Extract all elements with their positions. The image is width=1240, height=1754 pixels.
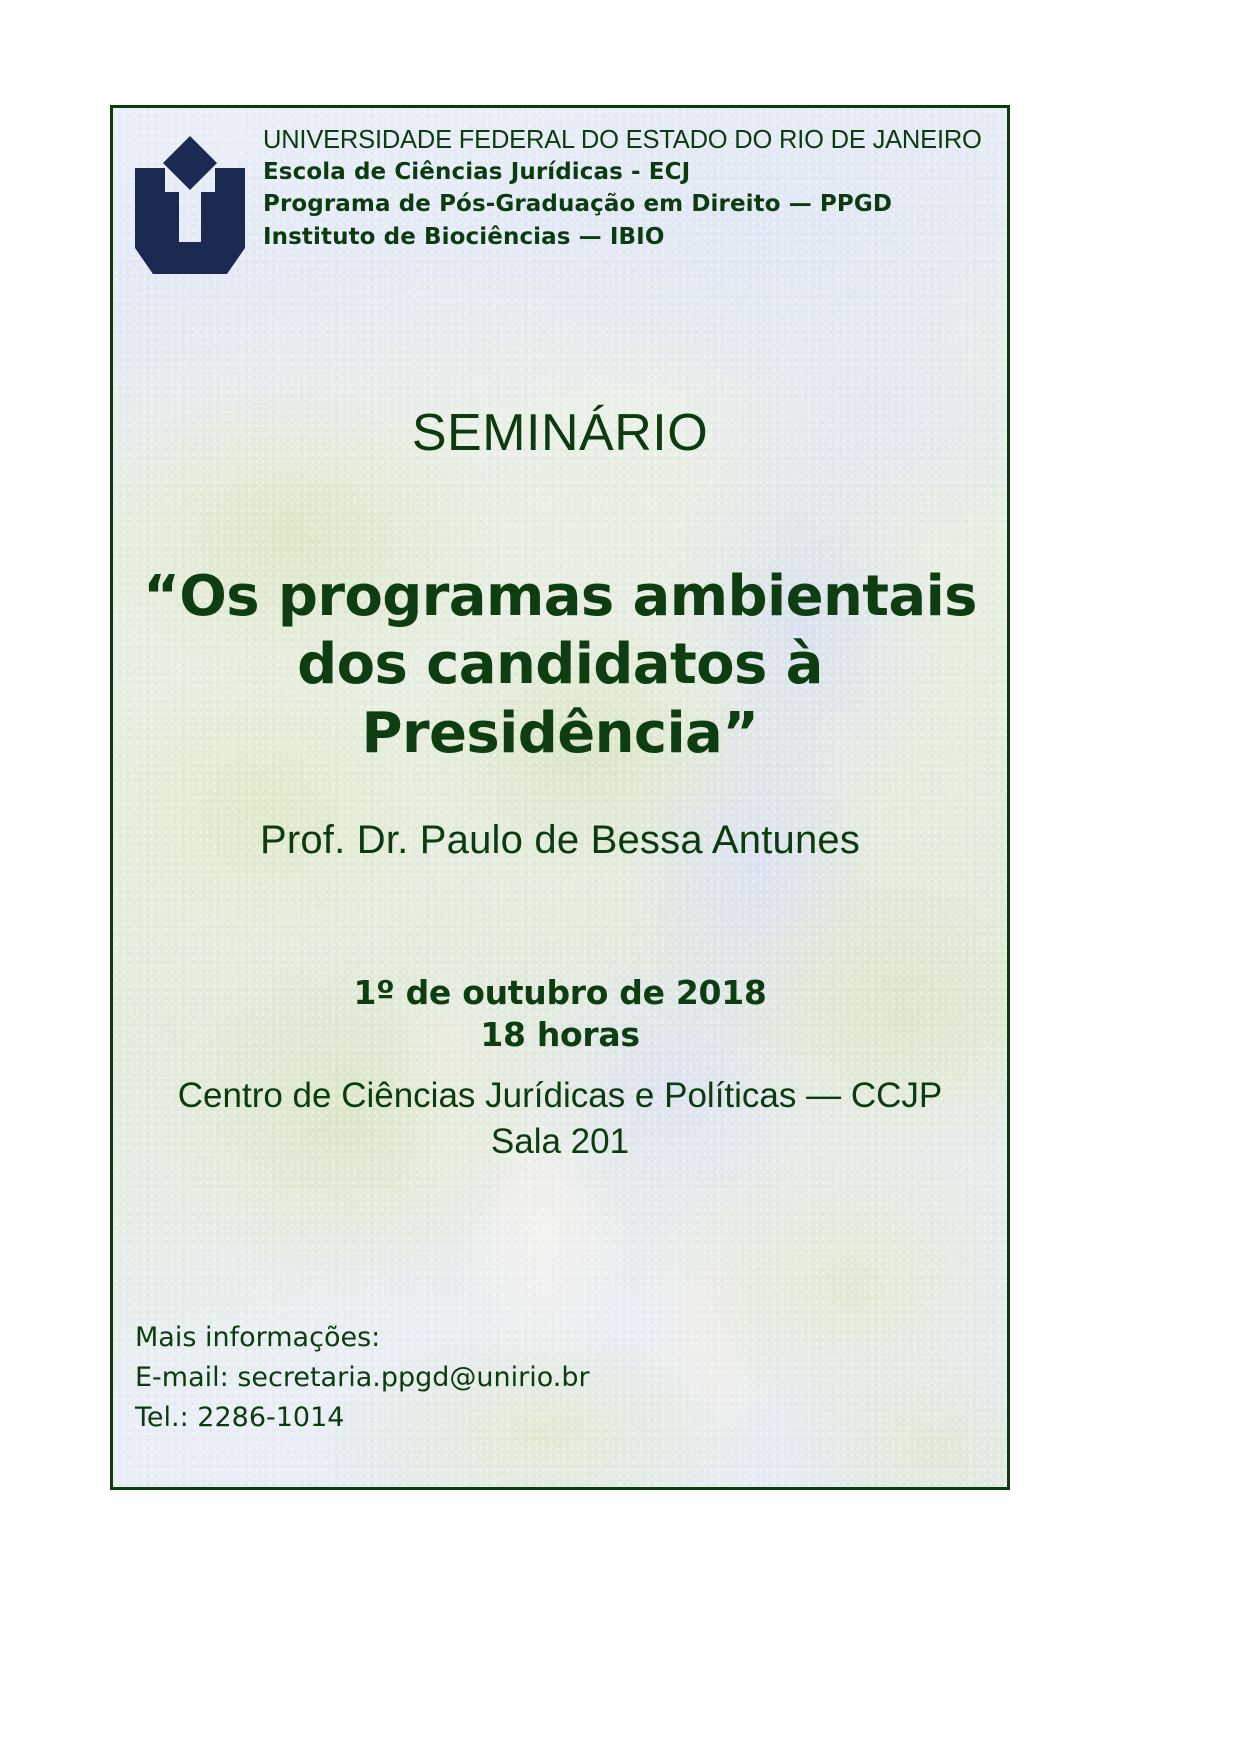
event-time: 18 horas — [113, 1013, 1007, 1058]
header-text-block: UNIVERSIDADE FEDERAL DO ESTADO DO RIO DE… — [263, 126, 982, 254]
speaker-name: Prof. Dr. Paulo de Bessa Antunes — [113, 818, 1007, 863]
event-datetime: 1º de outubro de 2018 18 horas — [113, 973, 1007, 1058]
venue-room: Sala 201 — [113, 1119, 1007, 1165]
event-title: “Os programas ambientais dos candidatos … — [119, 563, 1001, 768]
institute-name: Instituto de Biociências — IBIO — [263, 221, 982, 254]
unirio-logo-icon — [131, 130, 249, 280]
event-kind-label: SEMINÁRIO — [113, 403, 1007, 463]
program-name: Programa de Pós-Graduação em Direito — P… — [263, 188, 982, 221]
poster-frame: UNIVERSIDADE FEDERAL DO ESTADO DO RIO DE… — [110, 105, 1010, 1490]
contact-heading: Mais informações: — [135, 1318, 590, 1358]
event-title-line-2: dos candidatos à Presidência” — [119, 631, 1001, 768]
contact-block: Mais informações: E-mail: secretaria.ppg… — [135, 1318, 590, 1438]
poster-content: UNIVERSIDADE FEDERAL DO ESTADO DO RIO DE… — [113, 108, 1007, 1487]
event-date: 1º de outubro de 2018 — [113, 973, 1007, 1013]
university-name: UNIVERSIDADE FEDERAL DO ESTADO DO RIO DE… — [263, 126, 982, 156]
event-location: Centro de Ciências Jurídicas e Políticas… — [113, 1073, 1007, 1165]
poster-header: UNIVERSIDADE FEDERAL DO ESTADO DO RIO DE… — [125, 122, 997, 280]
venue-name: Centro de Ciências Jurídicas e Políticas… — [113, 1073, 1007, 1119]
contact-phone: Tel.: 2286-1014 — [135, 1398, 590, 1438]
event-title-line-1: “Os programas ambientais — [119, 563, 1001, 631]
contact-email: E-mail: secretaria.ppgd@unirio.br — [135, 1358, 590, 1398]
school-name: Escola de Ciências Jurídicas - ECJ — [263, 156, 982, 189]
